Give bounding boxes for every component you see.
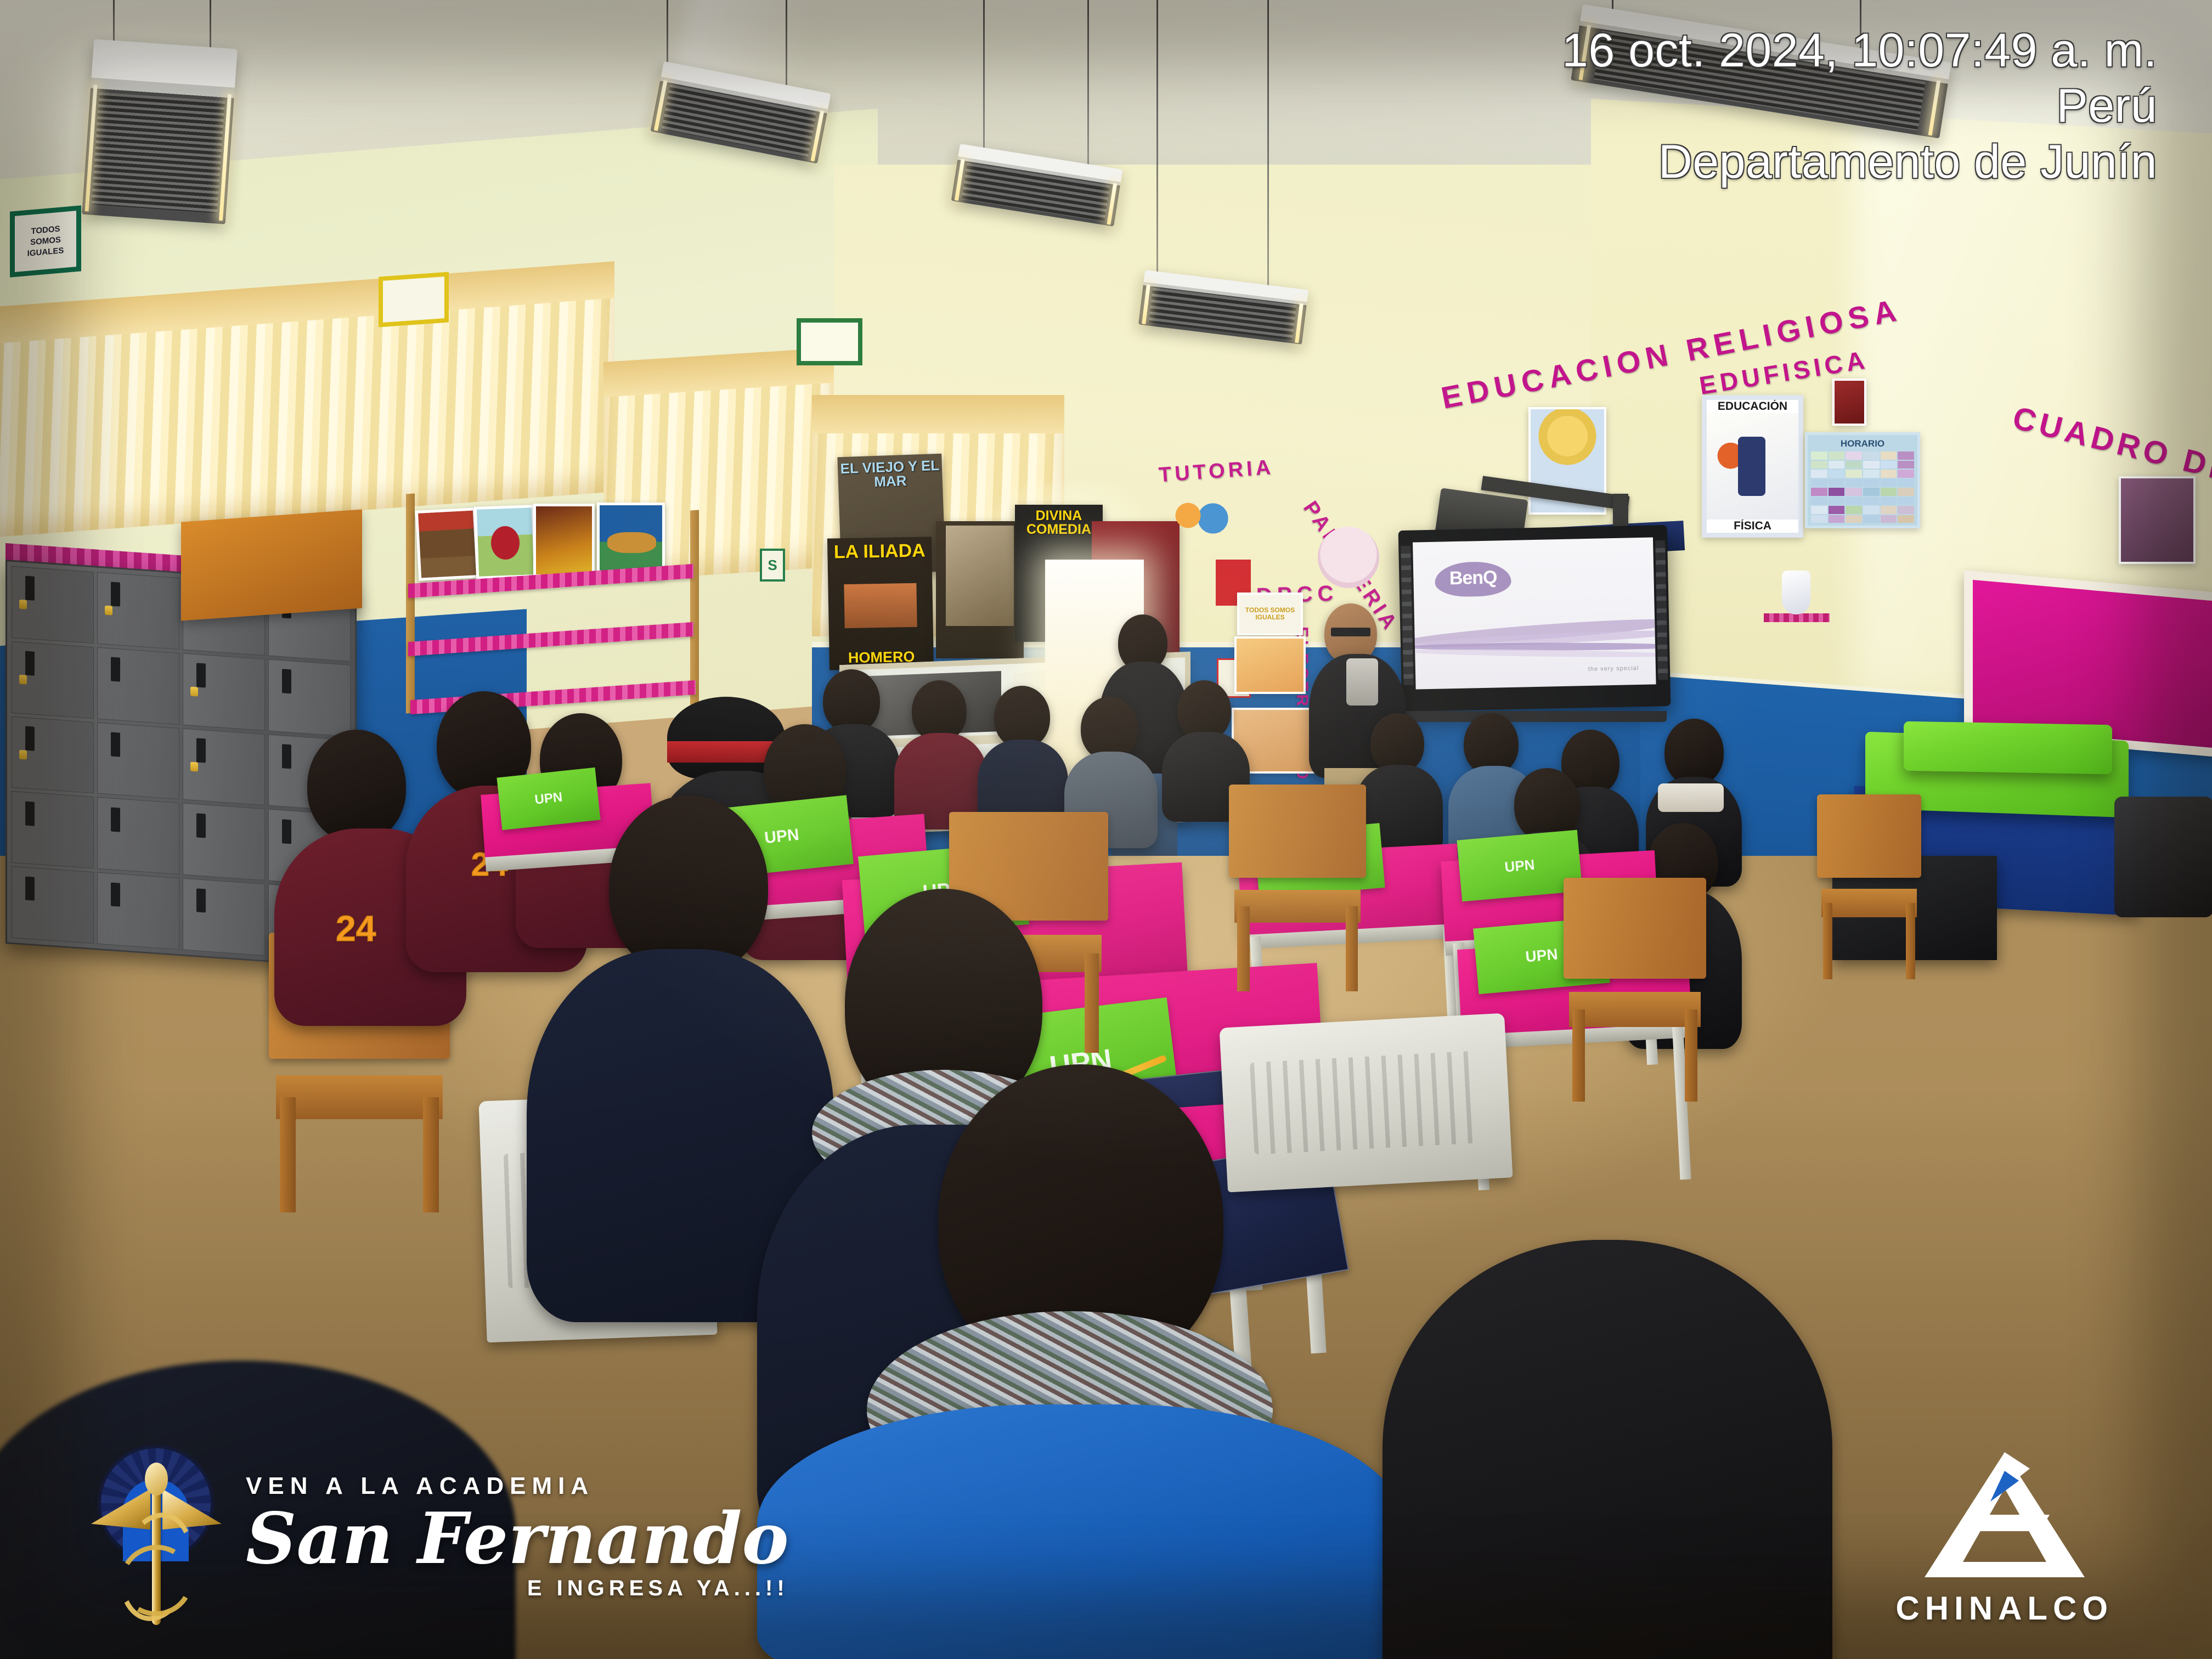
benq-screen[interactable]: BenQ the very special: [1413, 537, 1656, 689]
poster-todos-somos-iguales: TODOS SOMOS IGUALES: [1237, 592, 1303, 635]
student-painting: [415, 507, 479, 581]
chinalco-triangle-icon: [1922, 1449, 2087, 1581]
person-foreground-right: [1383, 1240, 1832, 1659]
sign-s-icon: S: [760, 549, 785, 582]
benq-tagline: the very special: [1588, 665, 1639, 673]
poster-art-frame: [936, 521, 1024, 658]
chair-wooden[interactable]: [1229, 785, 1366, 988]
chair-wooden[interactable]: [1817, 794, 1921, 975]
lamp-wire: [1267, 0, 1269, 296]
padlock-icon: [105, 606, 112, 616]
student-painting: [474, 505, 537, 579]
person-foreground-blue-sweater: [757, 1064, 1404, 1659]
chinalco-wordmark: CHINALCO: [1895, 1589, 2113, 1627]
lamp-wire: [983, 0, 985, 159]
locker-door[interactable]: [12, 641, 94, 719]
lamp-wire: [1156, 0, 1158, 285]
poster-line-2: FÍSICA: [1734, 520, 1771, 533]
locker-door[interactable]: [12, 566, 94, 644]
portrait-founder: [2119, 476, 2196, 564]
poster-line-1: EDUCACIÓN: [1718, 400, 1787, 413]
tutoria-graphic-icon: [1163, 488, 1234, 549]
board-side-buttons[interactable]: [1655, 540, 1668, 680]
locker-door[interactable]: [268, 659, 351, 736]
school-crest-icon: [1832, 379, 1866, 426]
presenter-scarf: [1346, 658, 1378, 706]
wall-sign-left-a: TODOS SOMOS IGUALES: [10, 205, 81, 277]
hood: [1658, 783, 1724, 812]
student-painting: [533, 504, 595, 577]
wooden-cabinet: [181, 509, 362, 620]
baker-mascot-icon: [1318, 527, 1379, 588]
padlock-icon: [19, 675, 26, 685]
locker-door[interactable]: [183, 653, 265, 730]
padlock-icon: [19, 750, 26, 760]
chair-wooden[interactable]: [1564, 878, 1706, 1097]
wall-shelf-small: [1764, 613, 1830, 622]
student: [894, 680, 988, 823]
poster-title: TODOS SOMOS IGUALES: [1239, 607, 1301, 621]
glasses-icon: [1331, 628, 1370, 636]
academy-kicker: VEN A LA ACADEMIA: [246, 1472, 789, 1500]
student: [978, 686, 1068, 828]
poster-title: DIVINA COMEDIA: [1017, 509, 1101, 537]
locker-door[interactable]: [97, 872, 179, 950]
locker-door[interactable]: [12, 716, 94, 793]
wall-sign-left-c: [797, 318, 862, 365]
locker-door[interactable]: [12, 866, 94, 944]
green-bag-pile: [1904, 721, 2112, 775]
padlock-icon: [190, 687, 198, 697]
academy-logo: VEN A LA ACADEMIA San Fernando E INGRESA…: [88, 1446, 789, 1627]
schedule-horario: HORARIO: [1805, 432, 1920, 528]
caduceus-gear-icon: [88, 1446, 225, 1627]
locker-door[interactable]: [97, 572, 179, 650]
locker-door[interactable]: [97, 647, 179, 724]
poster-title: EL VIEJO Y EL MAR: [840, 458, 941, 490]
locker-door[interactable]: [97, 722, 179, 799]
locker-door[interactable]: [12, 791, 94, 868]
lamp-wire: [1087, 0, 1089, 170]
flower-vase: [1782, 571, 1810, 614]
backpack: [2114, 797, 2212, 917]
ceiling-lamp-icon: [82, 39, 238, 224]
art-shelf-post: [406, 493, 415, 713]
benq-interactive-board[interactable]: BenQ the very special: [1398, 525, 1671, 712]
padlock-icon: [19, 600, 26, 610]
schedule-title: HORARIO: [1811, 438, 1914, 449]
academy-name: San Fernando: [246, 1503, 789, 1575]
blue-sweater: [757, 1404, 1404, 1659]
wall-sign-left-b: [379, 272, 449, 328]
poster-la-iliada: LA ILIADA HOMERO: [827, 537, 934, 670]
classroom-photo: TODOS SOMOS IGUALES EL VIEJO Y EL MAR LA…: [0, 0, 2212, 1659]
sponsor-logo: CHINALCO: [1895, 1449, 2113, 1627]
locker-door[interactable]: [183, 728, 265, 805]
locker-door[interactable]: [183, 803, 265, 881]
uniform-number: 24: [336, 907, 376, 949]
poster-educacion-fisica: EDUCACIÓN FÍSICA: [1702, 395, 1803, 538]
head: [307, 730, 406, 842]
jacket: [1383, 1240, 1832, 1659]
poster-title: LA ILIADA: [834, 541, 926, 562]
curtain-left-1: [0, 261, 614, 538]
locker-door[interactable]: [97, 797, 179, 874]
padlock-icon: [190, 761, 198, 771]
benq-logo: BenQ: [1435, 561, 1511, 597]
locker-door[interactable]: [183, 878, 265, 956]
